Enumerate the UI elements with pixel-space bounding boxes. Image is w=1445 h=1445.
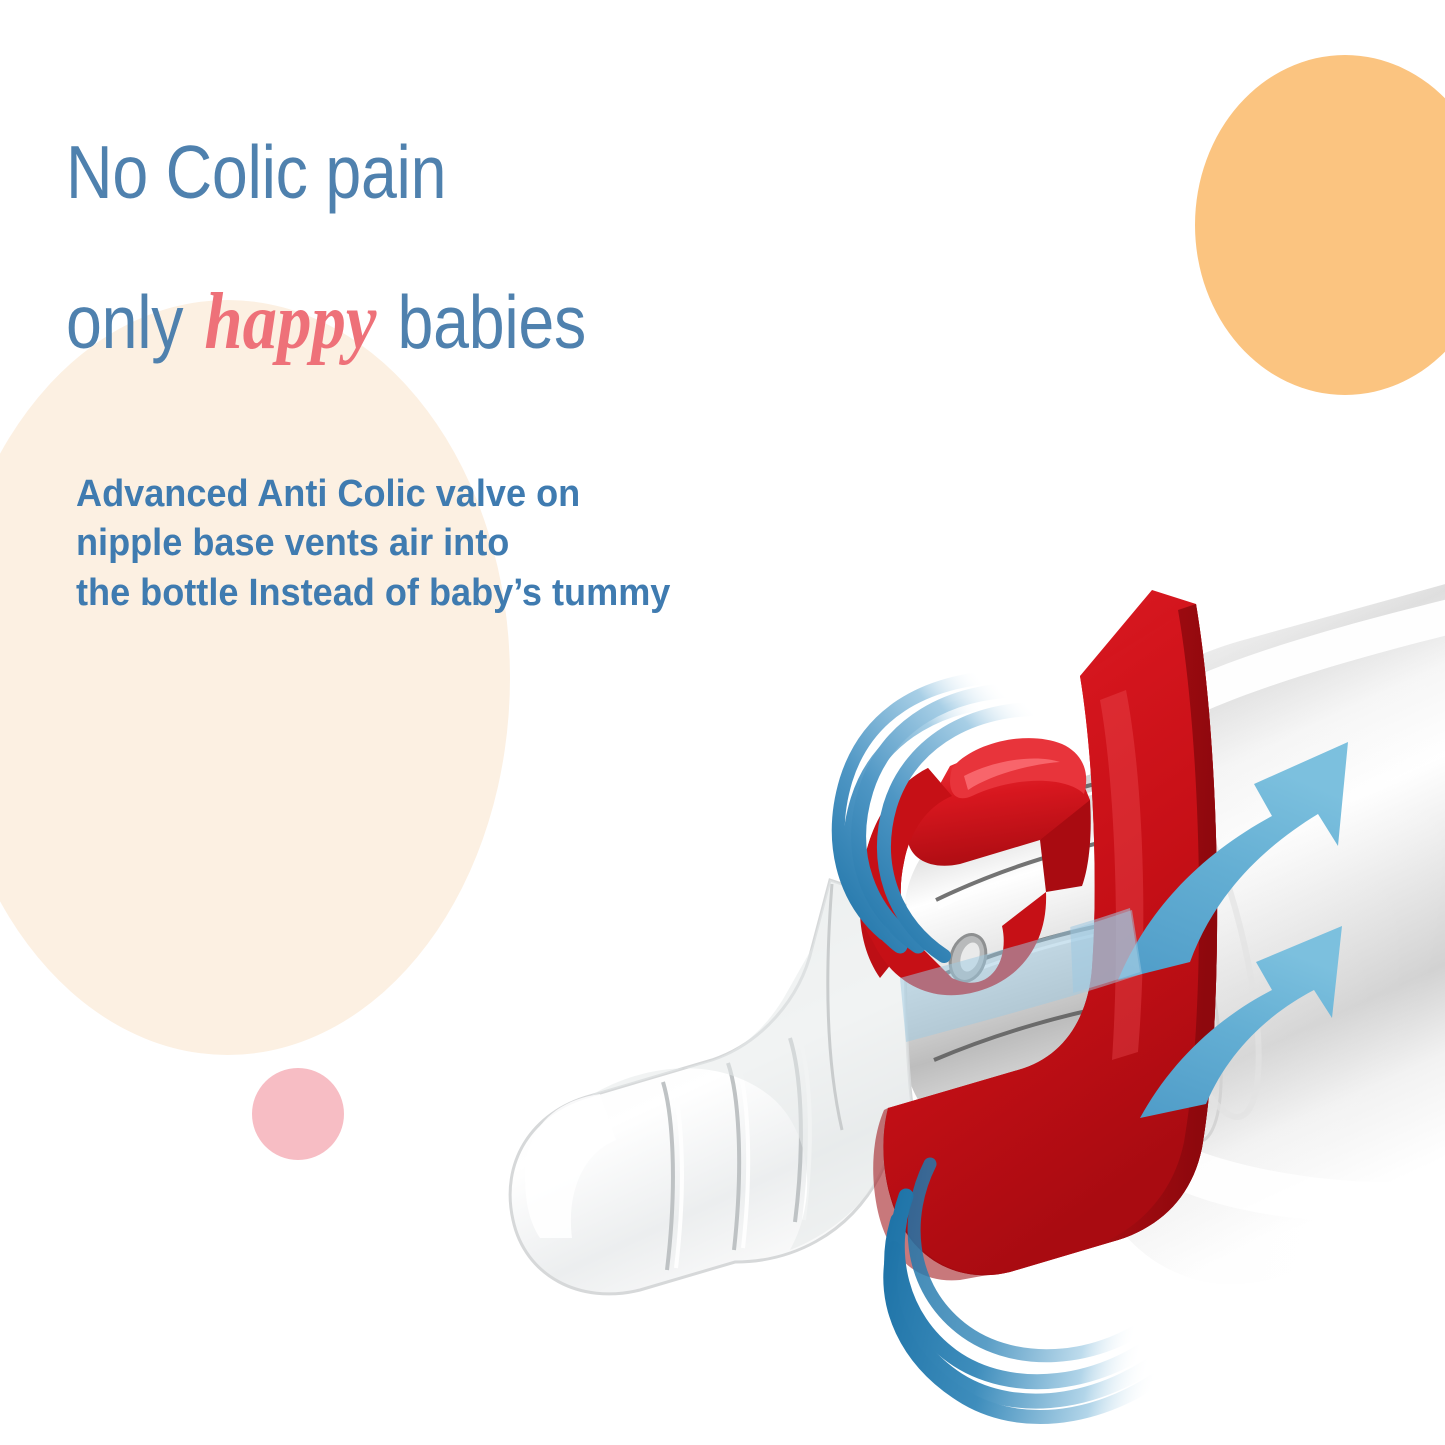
headline-accent-word: happy <box>201 278 380 366</box>
silicone-nipple <box>510 880 912 1294</box>
bottle-body <box>1054 580 1445 1284</box>
airflow-band-neck <box>900 910 1142 1042</box>
headline-line-1: No Colic pain <box>66 136 840 210</box>
airflow-swirl-top <box>838 676 1060 956</box>
feature-description-line-2: nipple base vents air into <box>76 519 931 568</box>
decorative-circle-pink <box>252 1068 344 1160</box>
airflow-arrow-upper <box>1118 742 1348 980</box>
airflow-arrows-body <box>905 742 1348 1118</box>
feature-description-line-3: the bottle Instead of baby’s tummy <box>76 569 931 618</box>
bottle-neck-threads <box>899 762 1147 1144</box>
red-valve-collar <box>873 590 1217 1280</box>
headline-line-2-suffix: babies <box>380 280 586 364</box>
decorative-circle-orange <box>1195 55 1445 395</box>
headline-line-2-prefix: only <box>66 280 201 364</box>
vent-hole <box>944 930 991 986</box>
poster-canvas: No Colic pain only happy babies Advanced… <box>0 0 1445 1445</box>
headline-line-2: only happy babies <box>66 283 840 361</box>
airflow-swirl-bottom <box>890 1164 1184 1417</box>
headline: No Colic pain only happy babies <box>66 62 840 434</box>
red-valve-tab <box>860 738 1091 995</box>
feature-description: Advanced Anti Colic valve on nipple base… <box>76 470 931 618</box>
feature-description-line-1: Advanced Anti Colic valve on <box>76 470 931 519</box>
airflow-arrow-lower <box>1140 926 1342 1118</box>
